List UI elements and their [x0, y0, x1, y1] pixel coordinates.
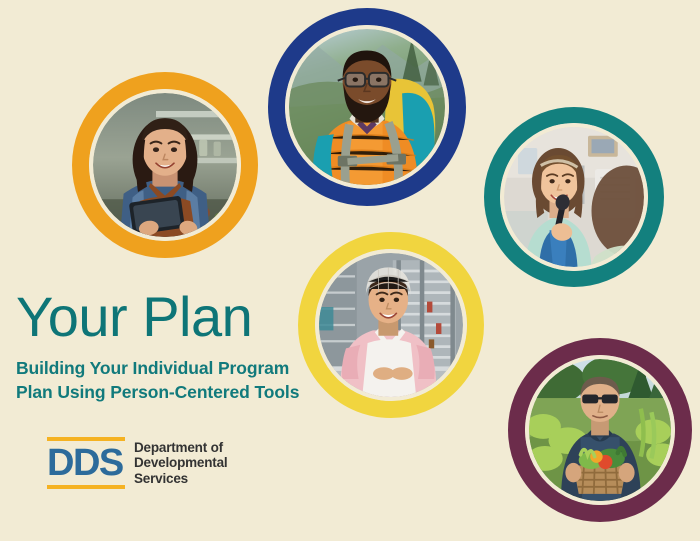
photo-hiker	[289, 29, 445, 185]
photo-circle-gardener	[508, 338, 692, 522]
page-subtitle-line-1: Building Your Individual Program	[16, 358, 289, 378]
photo-makeup-artist	[504, 127, 644, 267]
photo-circle-grocery-worker	[72, 72, 258, 258]
photo-circle-baker	[298, 232, 484, 418]
slide-canvas: Your Plan Building Your Individual Progr…	[0, 0, 700, 541]
photo-inner-gap	[89, 89, 241, 241]
page-title: Your Plan	[16, 288, 316, 346]
dds-wordmark: Department of Developmental Services	[134, 440, 227, 487]
photo-circle-makeup-artist	[484, 107, 664, 287]
headline-block: Your Plan Building Your Individual Progr…	[16, 288, 316, 404]
photo-grocery-worker	[93, 93, 237, 237]
page-subtitle-line-2: Plan Using Person-Centered Tools	[16, 382, 299, 402]
photo-inner-gap	[315, 249, 467, 401]
photo-inner-gap	[285, 25, 449, 189]
dds-logo: DDS Department of Developmental Services	[47, 437, 227, 489]
dds-wordmark-line-2: Developmental	[134, 455, 227, 471]
dds-wordmark-line-1: Department of	[134, 440, 227, 456]
dds-wordmark-line-3: Services	[134, 471, 227, 487]
photo-inner-gap	[500, 123, 648, 271]
page-subtitle: Building Your Individual Program Plan Us…	[16, 356, 316, 404]
photo-baker	[319, 253, 463, 397]
dds-rule-bottom	[47, 485, 125, 489]
photo-inner-gap	[525, 355, 675, 505]
photo-gardener	[529, 359, 671, 501]
dds-logo-mark: DDS	[47, 437, 125, 489]
photo-circle-hiker	[268, 8, 466, 206]
dds-acronym: DDS	[47, 441, 125, 485]
